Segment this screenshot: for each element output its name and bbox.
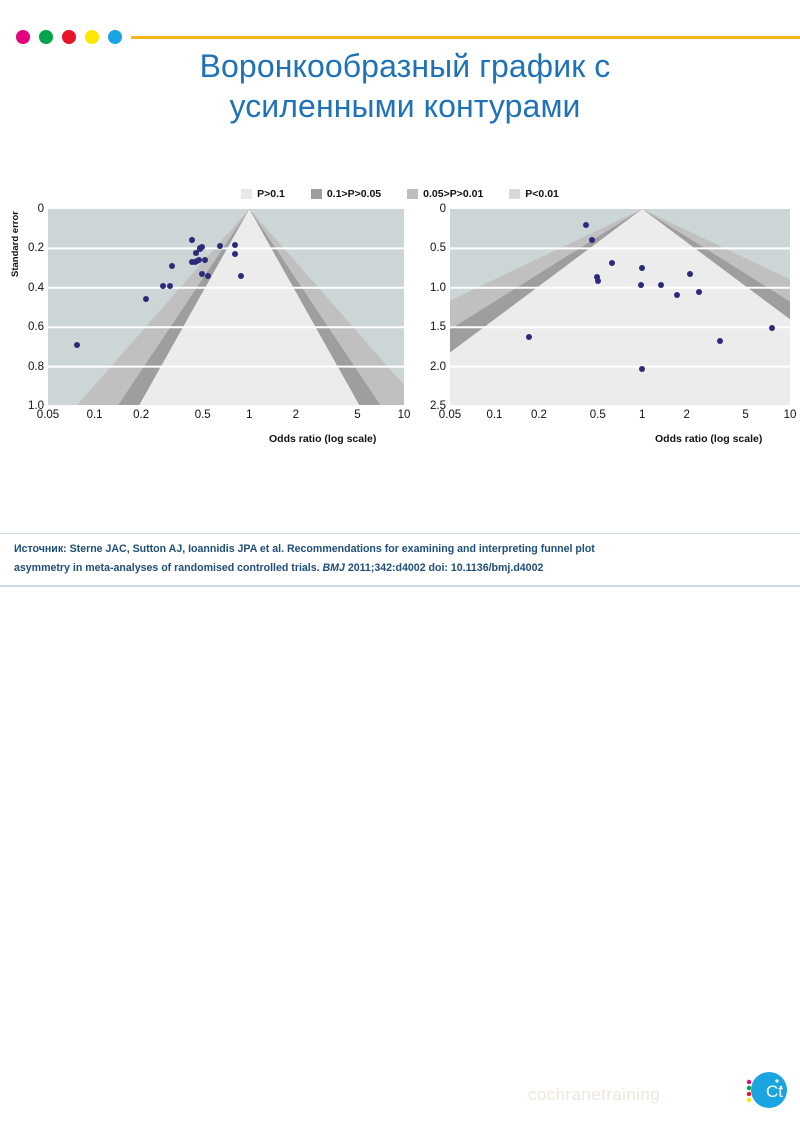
data-point — [639, 265, 645, 271]
x-tick-label: 5 — [742, 409, 748, 421]
x-tick-label: 0.2 — [133, 409, 149, 421]
plot-area — [48, 209, 404, 406]
x-tick-label: 0.05 — [439, 409, 461, 421]
plot-area — [450, 209, 790, 406]
data-point — [202, 257, 208, 263]
legend-item-3: P<0.01 — [509, 188, 559, 200]
x-tick-label: 0.5 — [590, 409, 606, 421]
footer-divider-bottom — [0, 585, 800, 587]
data-point — [674, 292, 680, 298]
y-tick-label: 0.8 — [28, 361, 44, 373]
page-title: Воронкообразный график с усиленными конт… — [60, 46, 750, 126]
y-tick-label: 0.4 — [28, 282, 44, 294]
funnel-plots-container: Standard error00.20.40.60.81.00.050.10.2… — [0, 203, 800, 453]
y-tick-label: 0.5 — [430, 242, 446, 254]
contour-funnel — [48, 209, 404, 406]
x-tick-label: 0.2 — [531, 409, 547, 421]
legend-label: P>0.1 — [257, 188, 285, 200]
legend-item-1: 0.1>P>0.05 — [311, 188, 381, 200]
legend-label: 0.1>P>0.05 — [327, 188, 381, 200]
data-point — [167, 283, 173, 289]
data-point — [199, 244, 205, 250]
cochrane-training-logo: Ct — [736, 1062, 792, 1118]
data-point — [658, 282, 664, 288]
y-tick-label: 0.2 — [28, 242, 44, 254]
y-tick-label: 1.0 — [430, 282, 446, 294]
data-point — [232, 242, 238, 248]
data-point — [232, 251, 238, 257]
legend-item-2: 0.05>P>0.01 — [407, 188, 483, 200]
legend-label: P<0.01 — [525, 188, 559, 200]
legend-swatch-icon — [407, 189, 418, 199]
x-tick-label: 2 — [684, 409, 690, 421]
y-tick-label: 0 — [38, 203, 44, 215]
footer: Источник: Sterne JAC, Sutton AJ, Ioannid… — [0, 534, 800, 592]
data-point — [74, 342, 80, 348]
funnel-plot-right: 00.51.01.52.02.50.050.10.20.512510Odds r… — [400, 203, 800, 453]
citation-line-2-b: 2011;342:d4002 doi: 10.1136/bmj.d4002 — [345, 562, 543, 574]
legend-item-0: P>0.1 — [241, 188, 285, 200]
data-point — [205, 273, 211, 279]
data-point — [526, 334, 532, 340]
citation-line-1: Источник: Sterne JAC, Sutton AJ, Ioannid… — [14, 543, 595, 555]
data-point — [639, 366, 645, 372]
data-point — [687, 271, 693, 277]
data-point — [583, 222, 589, 228]
dot-yellow-icon — [85, 30, 99, 44]
x-tick-label: 0.1 — [486, 409, 502, 421]
legend-swatch-icon — [241, 189, 252, 199]
chart-legend: P>0.10.1>P>0.050.05>P>0.01P<0.01 — [0, 188, 800, 200]
funnel-plot-left: Standard error00.20.40.60.81.00.050.10.2… — [0, 203, 404, 453]
y-axis-title: Standard error — [10, 211, 21, 277]
dot-magenta-icon — [16, 30, 30, 44]
citation-line-2-a: asymmetry in meta-analyses of randomised… — [14, 562, 323, 574]
data-point — [238, 273, 244, 279]
data-point — [769, 325, 775, 331]
data-point — [160, 283, 166, 289]
data-point — [696, 289, 702, 295]
watermark-text: cochranetraining — [528, 1085, 660, 1105]
legend-swatch-icon — [311, 189, 322, 199]
x-tick-label: 0.5 — [195, 409, 211, 421]
data-point — [609, 260, 615, 266]
x-tick-label: 1 — [246, 409, 252, 421]
dot-blue-icon — [108, 30, 122, 44]
x-tick-label: 1 — [639, 409, 645, 421]
x-tick-label: 10 — [784, 409, 797, 421]
page-title-line-1: Воронкообразный график с — [60, 46, 750, 86]
x-tick-label: 5 — [354, 409, 360, 421]
dot-green-icon — [39, 30, 53, 44]
svg-text:Ct: Ct — [766, 1082, 783, 1101]
y-tick-label: 0.6 — [28, 321, 44, 333]
x-axis-title: Odds ratio (log scale) — [269, 433, 376, 445]
page-title-line-2: усиленными контурами — [60, 86, 750, 126]
source-citation: Источник: Sterne JAC, Sutton AJ, Ioannid… — [14, 540, 728, 578]
data-point — [189, 237, 195, 243]
dot-red-icon — [62, 30, 76, 44]
data-point — [143, 296, 149, 302]
data-point — [717, 338, 723, 344]
citation-journal: BMJ — [323, 562, 345, 574]
header-rule — [131, 36, 800, 39]
x-axis-title: Odds ratio (log scale) — [655, 433, 762, 445]
x-tick-label: 2 — [293, 409, 299, 421]
data-point — [595, 278, 601, 284]
x-tick-label: 0.05 — [37, 409, 59, 421]
data-point — [589, 237, 595, 243]
contour-funnel — [450, 209, 790, 406]
legend-swatch-icon — [509, 189, 520, 199]
data-point — [217, 243, 223, 249]
y-tick-label: 1.5 — [430, 321, 446, 333]
data-point — [169, 263, 175, 269]
data-point — [638, 282, 644, 288]
header-decoration — [0, 0, 800, 46]
legend-label: 0.05>P>0.01 — [423, 188, 483, 200]
y-tick-label: 0 — [440, 203, 446, 215]
x-tick-label: 0.1 — [87, 409, 103, 421]
y-tick-label: 2.0 — [430, 361, 446, 373]
